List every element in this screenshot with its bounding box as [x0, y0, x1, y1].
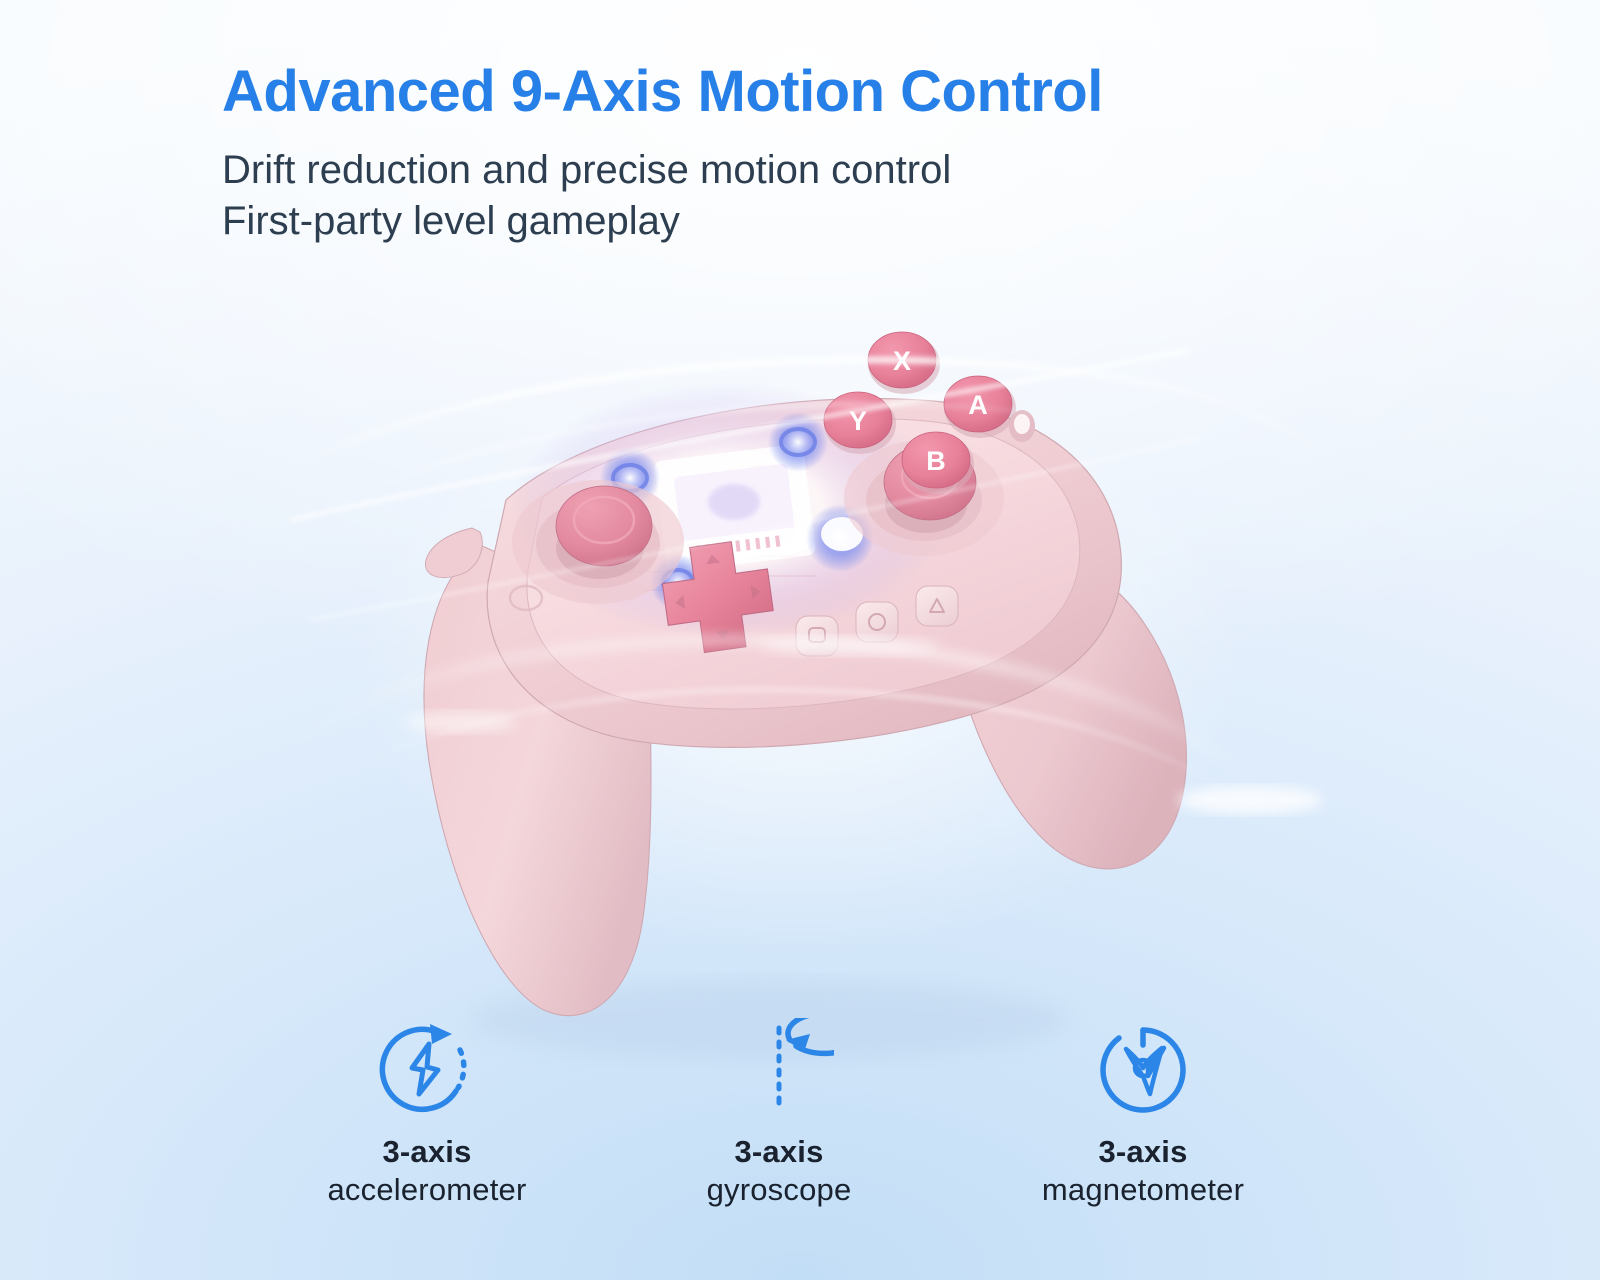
system-button-plus[interactable]	[916, 586, 958, 626]
promo-banner: Advanced 9-Axis Motion Control Drift red…	[0, 0, 1600, 1280]
page-title: Advanced 9-Axis Motion Control	[222, 62, 1462, 123]
left-analog-stick[interactable]	[512, 480, 684, 604]
sensor-name-label: accelerometer	[327, 1172, 526, 1208]
subtitle-line-2: First-party level gameplay	[222, 196, 1462, 247]
sensor-item-gyroscope: 3-axis gyroscope	[594, 1018, 964, 1208]
accelerometer-icon	[372, 1018, 482, 1122]
subtitle-block: Drift reduction and precise motion contr…	[222, 145, 1462, 247]
system-button-home[interactable]	[856, 602, 898, 642]
sensor-axis-label: 3-axis	[382, 1134, 471, 1170]
sensor-name-label: magnetometer	[1042, 1172, 1244, 1208]
svg-text:X: X	[893, 346, 911, 376]
svg-text:B: B	[926, 446, 946, 476]
sensor-name-label: gyroscope	[707, 1172, 852, 1208]
magnetometer-icon	[1088, 1018, 1198, 1122]
face-button-x[interactable]: X	[868, 332, 940, 394]
sensor-item-magnetometer: 3-axis magnetometer	[958, 1018, 1328, 1208]
svg-text:A: A	[968, 390, 988, 420]
header-block: Advanced 9-Axis Motion Control Drift red…	[222, 62, 1462, 247]
sensor-feature-row: 3-axis accelerometer 3-axis gyroscope	[0, 1018, 1600, 1208]
product-image-controller: X Y A B	[330, 320, 1210, 1060]
player-indicator-light	[1009, 410, 1035, 442]
sensor-axis-label: 3-axis	[1098, 1134, 1187, 1170]
sensor-axis-label: 3-axis	[734, 1134, 823, 1170]
gyroscope-icon	[724, 1018, 834, 1122]
subtitle-line-1: Drift reduction and precise motion contr…	[222, 148, 951, 192]
system-button-capture[interactable]	[796, 616, 838, 656]
sensor-item-accelerometer: 3-axis accelerometer	[242, 1018, 612, 1208]
